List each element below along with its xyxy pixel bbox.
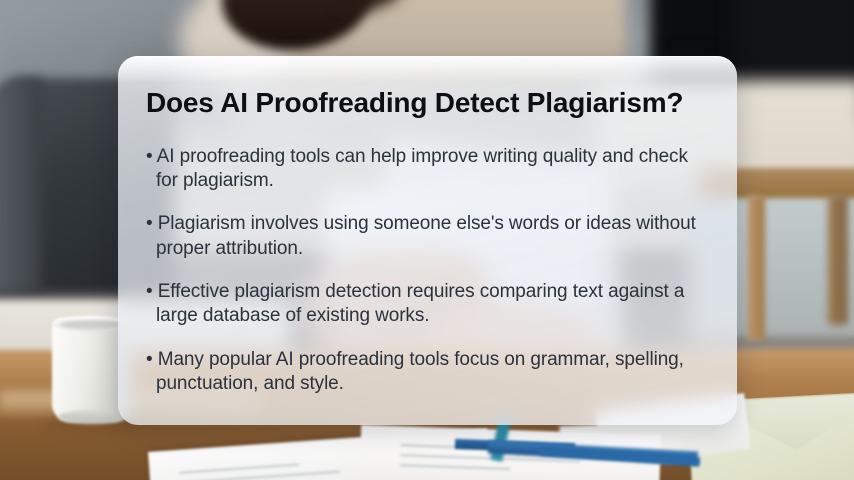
bullet-item: • Many popular AI proofreading tools foc… [146, 348, 707, 397]
wooden-table-leg [748, 195, 765, 340]
content-card: Does AI Proofreading Detect Plagiarism? … [118, 56, 737, 425]
wooden-table-leg [828, 195, 848, 325]
bullet-item: • Effective plagiarism detection require… [146, 280, 707, 329]
mug-base [58, 410, 126, 424]
bullet-item: • AI proofreading tools can help improve… [146, 145, 707, 194]
slide-title: Does AI Proofreading Detect Plagiarism? [146, 88, 707, 119]
office-chair-edge [0, 78, 42, 293]
bullet-item: • Plagiarism involves using someone else… [146, 212, 707, 261]
mug-opening [60, 320, 124, 329]
